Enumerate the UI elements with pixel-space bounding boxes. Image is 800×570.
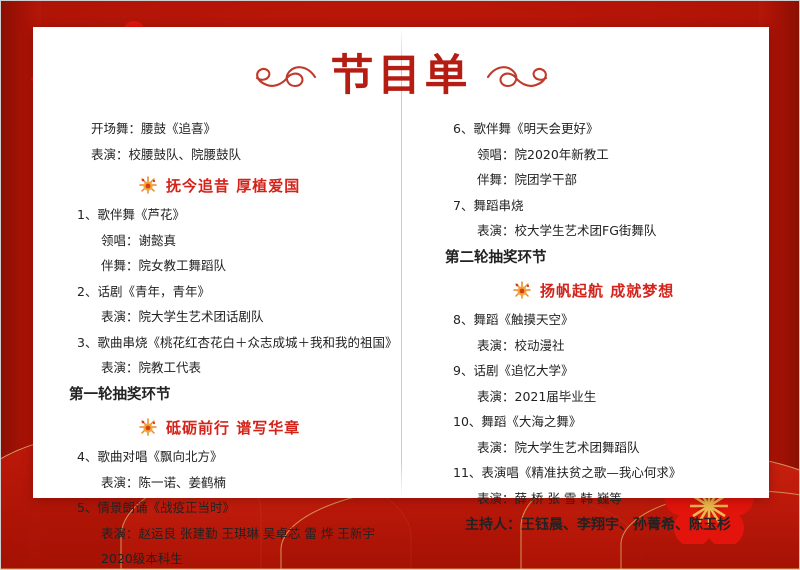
firework-burst-icon <box>137 416 159 438</box>
program-credit: 伴舞：院女教工舞蹈队 <box>59 260 387 273</box>
section-banner: 抚今追昔 厚植爱国 <box>59 174 387 196</box>
program-credit: 伴舞：院团学干部 <box>435 174 751 187</box>
section-banner: 砥砺前行 谱写华章 <box>59 416 387 438</box>
program-credit: 表演：院大学生艺术团舞蹈队 <box>435 442 751 455</box>
program-item: 11、表演唱《精准扶贫之歌—我心何求》 <box>435 467 751 480</box>
program-credit: 表演：薛 桥 张 雪 韩 巍等 <box>435 493 751 506</box>
section-heading: 第二轮抽奖环节 <box>435 251 751 266</box>
program-item: 10、舞蹈《大海之舞》 <box>435 416 751 429</box>
section-banner-text: 抚今追昔 厚植爱国 <box>166 175 300 196</box>
program-opening: 表演：校腰鼓队、院腰鼓队 <box>59 149 387 162</box>
host-line: 主持人：王钰晨、李翔宇、孙菁希、陈玉杉 <box>435 518 751 532</box>
program-credit: 领唱：院2020年新教工 <box>435 149 751 162</box>
program-credit: 表演：陈一诺、姜鹤楠 <box>59 477 387 490</box>
section-banner-text: 扬帆起航 成就梦想 <box>540 280 674 301</box>
program-poster: 节目单 开场舞：腰鼓《追喜》表演：校腰鼓队、院腰鼓队抚今追昔 厚植爱国1、歌伴舞… <box>0 0 800 570</box>
firework-burst-icon <box>511 279 533 301</box>
program-item: 1、歌伴舞《芦花》 <box>59 209 387 222</box>
section-heading: 第一轮抽奖环节 <box>59 388 387 403</box>
program-item: 9、话剧《追忆大学》 <box>435 365 751 378</box>
program-columns: 开场舞：腰鼓《追喜》表演：校腰鼓队、院腰鼓队抚今追昔 厚植爱国1、歌伴舞《芦花》… <box>33 123 769 570</box>
program-item: 5、情景朗诵《战疫正当时》 <box>59 502 387 515</box>
program-credit-continued: 2020级本科生 <box>59 553 387 566</box>
program-credit: 表演：2021届毕业生 <box>435 391 751 404</box>
program-credit: 表演：院大学生艺术团话剧队 <box>59 311 387 324</box>
program-credit: 表演：校大学生艺术团FG街舞队 <box>435 225 751 238</box>
program-column-left: 开场舞：腰鼓《追喜》表演：校腰鼓队、院腰鼓队抚今追昔 厚植爱国1、歌伴舞《芦花》… <box>33 123 401 570</box>
section-banner-text: 砥砺前行 谱写华章 <box>166 417 300 438</box>
program-item: 6、歌伴舞《明天会更好》 <box>435 123 751 136</box>
flourish-swirl-right-icon <box>486 64 552 90</box>
program-credit: 领唱：谢懿真 <box>59 235 387 248</box>
program-credit: 表演：校动漫社 <box>435 340 751 353</box>
program-item: 2、话剧《青年，青年》 <box>59 286 387 299</box>
program-item: 4、歌曲对唱《飘向北方》 <box>59 451 387 464</box>
firework-burst-icon <box>137 174 159 196</box>
section-banner: 扬帆起航 成就梦想 <box>435 279 751 301</box>
program-item: 3、歌曲串烧《桃花红杏花白＋众志成城＋我和我的祖国》 <box>59 337 387 350</box>
program-credit: 表演：院教工代表 <box>59 362 387 375</box>
program-credit: 表演：赵运良 张建勤 王琪琳 吴卓芯 雷 烨 王新宇 <box>59 528 387 541</box>
flourish-swirl-left-icon <box>251 64 317 90</box>
program-opening: 开场舞：腰鼓《追喜》 <box>59 123 387 136</box>
program-column-right: 6、歌伴舞《明天会更好》领唱：院2020年新教工伴舞：院团学干部7、舞蹈串烧表演… <box>401 123 769 570</box>
program-item: 8、舞蹈《触摸天空》 <box>435 314 751 327</box>
program-paper-panel: 节目单 开场舞：腰鼓《追喜》表演：校腰鼓队、院腰鼓队抚今追昔 厚植爱国1、歌伴舞… <box>33 27 769 498</box>
program-item: 7、舞蹈串烧 <box>435 200 751 213</box>
